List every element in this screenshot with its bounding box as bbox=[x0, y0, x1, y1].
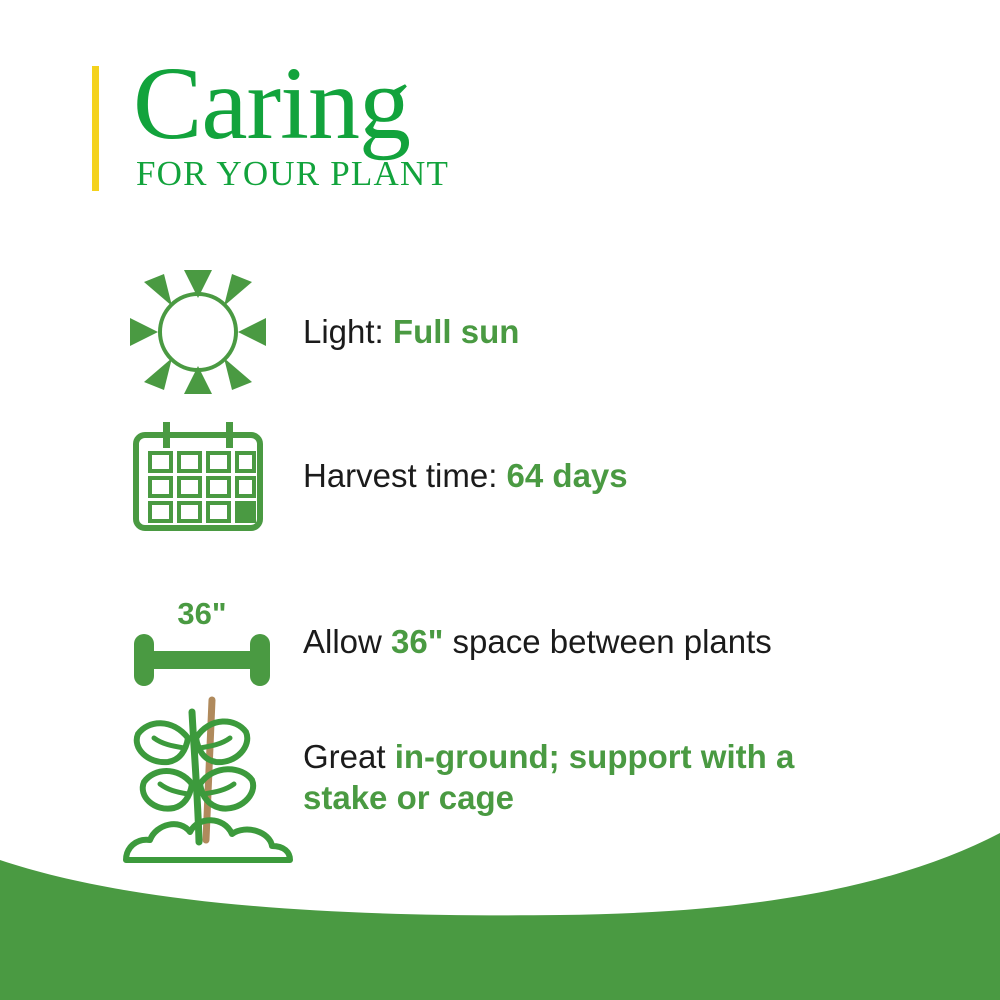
harvest-value: 64 days bbox=[507, 457, 628, 494]
harvest-label: Harvest time: bbox=[303, 457, 507, 494]
support-label-prefix: Great bbox=[303, 738, 395, 775]
page-title: Caring bbox=[133, 56, 449, 152]
spacing-bar-graphic bbox=[132, 632, 272, 688]
care-row-light-text: Light: Full sun bbox=[303, 312, 519, 352]
spacing-label-suffix: space between plants bbox=[443, 623, 771, 660]
spacing-label-prefix: Allow bbox=[303, 623, 391, 660]
sun-icon-wrap bbox=[128, 268, 268, 396]
care-row-spacing-text: Allow 36" space between plants bbox=[303, 622, 772, 662]
header: Caring FOR YOUR PLANT bbox=[92, 66, 449, 191]
spacing-icon-wrap: 36" bbox=[128, 596, 276, 688]
calendar-icon bbox=[128, 420, 268, 532]
care-row-harvest: Harvest time: 64 days bbox=[128, 420, 948, 532]
accent-bar bbox=[92, 66, 99, 191]
care-row-light: Light: Full sun bbox=[128, 268, 948, 396]
care-row-support-text: Great in-ground; support with a stake or… bbox=[303, 737, 843, 818]
spacing-icon-label: 36" bbox=[132, 596, 272, 632]
bottom-wave-decoration bbox=[0, 825, 1000, 1000]
sun-icon bbox=[128, 268, 268, 396]
care-row-spacing: 36" Allow 36" space between plants bbox=[128, 596, 948, 688]
light-label: Light: bbox=[303, 313, 393, 350]
care-row-harvest-text: Harvest time: 64 days bbox=[303, 456, 628, 496]
page-subtitle: FOR YOUR PLANT bbox=[136, 156, 449, 191]
plant-care-card: Caring FOR YOUR PLANT bbox=[0, 0, 1000, 1000]
spacing-value: 36" bbox=[391, 623, 443, 660]
light-value: Full sun bbox=[393, 313, 520, 350]
title-block: Caring FOR YOUR PLANT bbox=[133, 66, 449, 191]
calendar-icon-wrap bbox=[128, 420, 268, 532]
spacing-icon: 36" bbox=[132, 596, 272, 688]
